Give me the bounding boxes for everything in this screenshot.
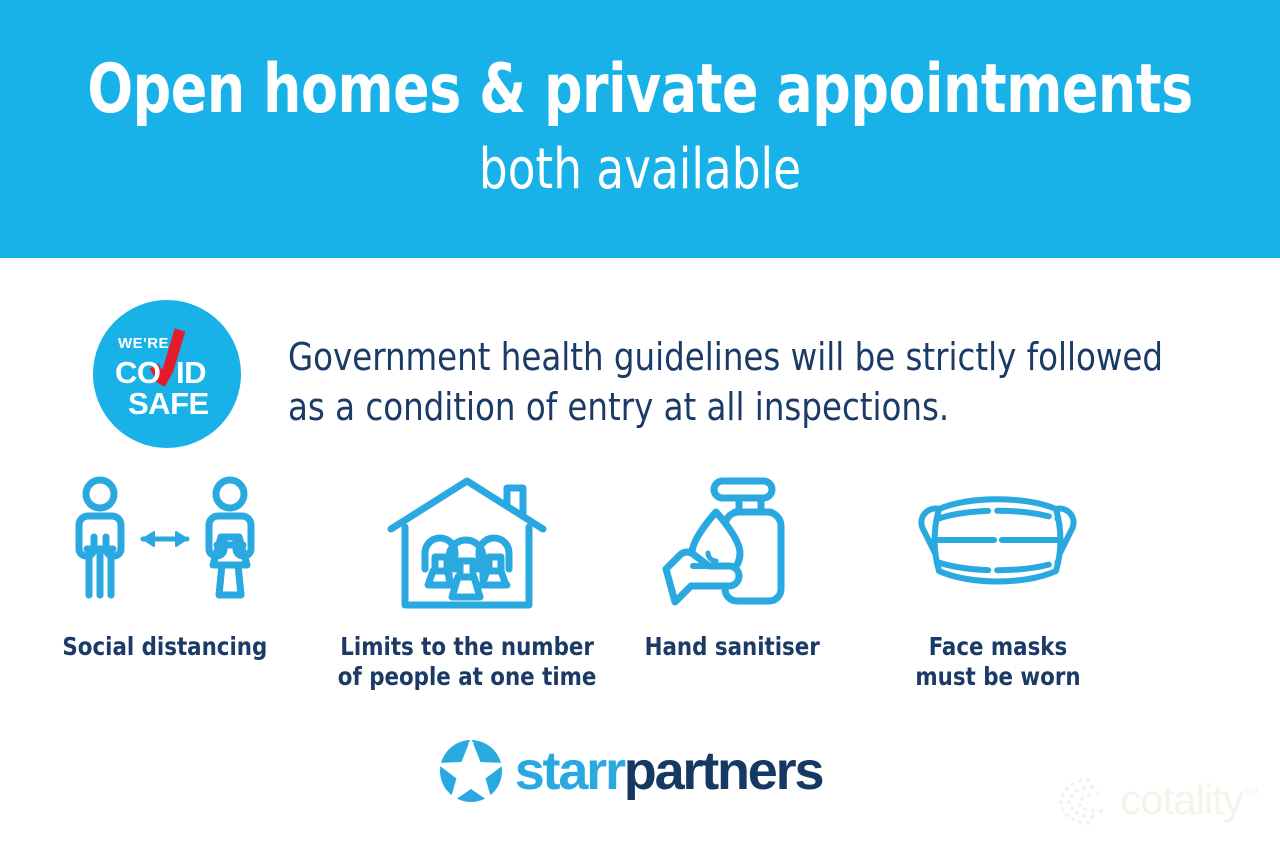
guideline-label: Face masks must be worn: [915, 632, 1080, 691]
starr-partners-star-logo-icon: [440, 740, 502, 802]
cotality-wordmark: cotality™: [1120, 779, 1258, 821]
page-subtitle: both available: [479, 142, 801, 198]
health-guidelines-statement: Government health guidelines will be str…: [288, 332, 1176, 432]
header-band: Open homes & private appointments both a…: [0, 0, 1280, 258]
poster-canvas: Open homes & private appointments both a…: [0, 0, 1280, 853]
statement-row: WE'RE CO ID SAFE Government health guide…: [0, 300, 1280, 448]
g-icon-wrap: [385, 470, 550, 620]
social-distancing-icon: [65, 475, 265, 615]
cotality-trademark: ™: [1243, 786, 1258, 803]
guideline-label: Hand sanitiser: [645, 632, 820, 662]
brand-word-partners: partners: [624, 741, 822, 801]
guideline-occupancy-limit: Limits to the number of people at one ti…: [330, 470, 605, 691]
guideline-label: Social distancing: [63, 632, 268, 662]
g-icon-wrap: [660, 470, 805, 620]
guideline-social-distancing: Social distancing: [0, 470, 330, 662]
cotality-logo-mark-icon: [1058, 775, 1112, 825]
hand-sanitiser-icon: [660, 475, 805, 615]
covid-safe-badge: WE'RE CO ID SAFE: [93, 300, 241, 448]
house-occupancy-limit-icon: [385, 475, 550, 615]
guideline-label: Limits to the number of people at one ti…: [338, 632, 597, 691]
cotality-text: cotality: [1120, 776, 1243, 823]
brand-inner: starrpartners: [440, 740, 823, 802]
svg-text:ID: ID: [176, 355, 206, 390]
g-icon-wrap: [65, 470, 265, 620]
g-icon-wrap: [910, 470, 1085, 620]
svg-text:WE'RE: WE'RE: [118, 335, 169, 352]
face-mask-icon: [910, 475, 1085, 615]
cotality-watermark: cotality™: [1058, 775, 1258, 825]
svg-text:CO: CO: [115, 355, 161, 390]
guideline-face-mask: Face masks must be worn: [860, 470, 1135, 691]
page-title: Open homes & private appointments: [87, 56, 1192, 124]
guidelines-row: Social distancing: [0, 470, 1280, 691]
svg-text:SAFE: SAFE: [128, 386, 209, 421]
brand-wordmark: starrpartners: [515, 744, 823, 798]
guideline-hand-sanitiser: Hand sanitiser: [605, 470, 860, 662]
brand-word-starr: starr: [515, 741, 624, 801]
covid-safe-badge-icon: WE'RE CO ID SAFE: [104, 326, 230, 422]
